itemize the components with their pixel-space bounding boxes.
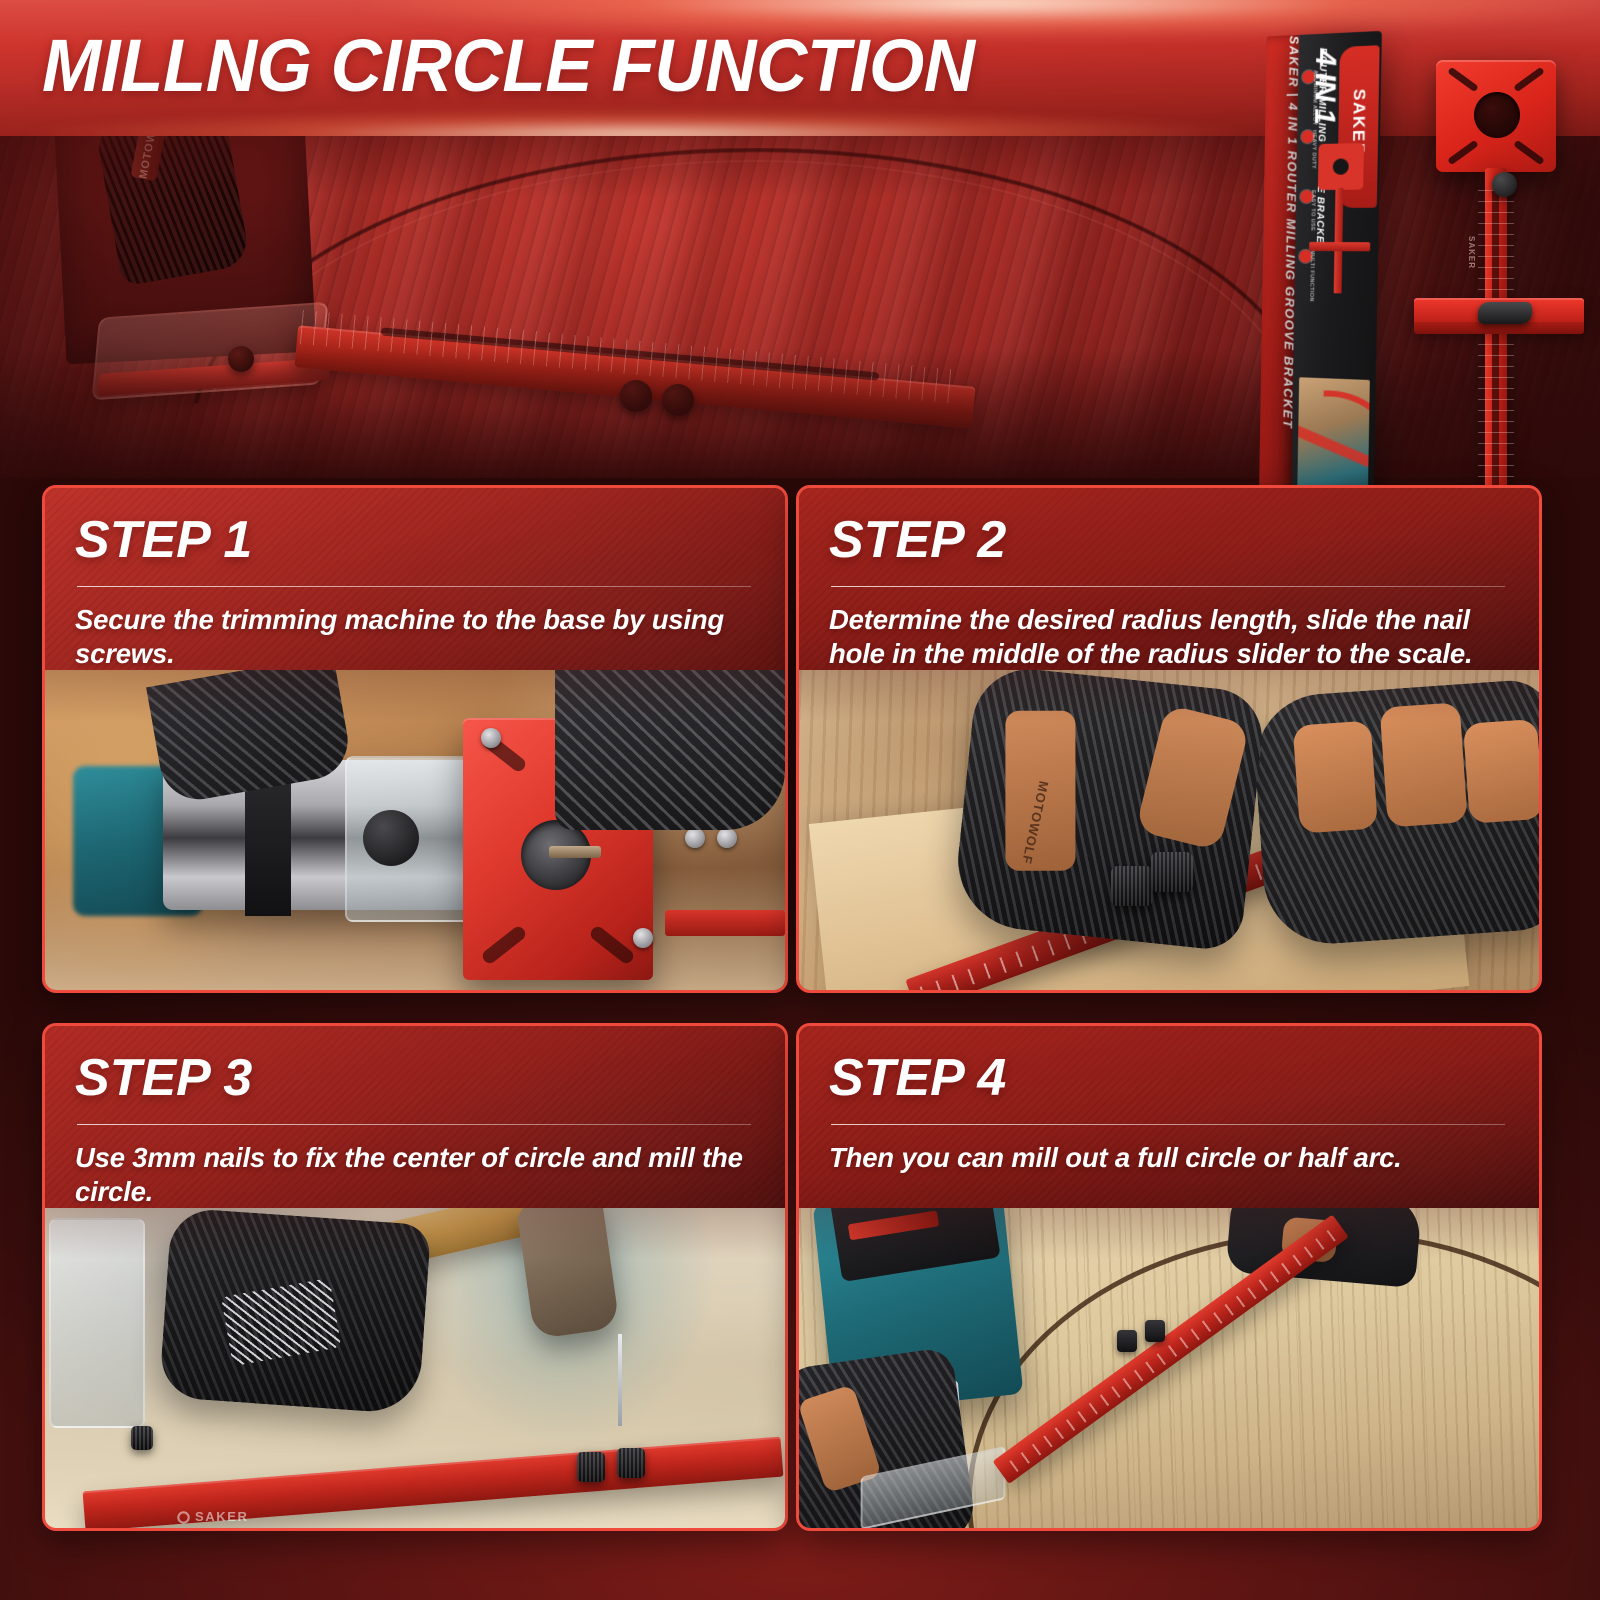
step-4-photo [799, 1208, 1539, 1528]
step-4-header: STEP 4 Then you can mill out a full circ… [799, 1026, 1539, 1214]
step-1-photo [45, 670, 785, 990]
tool-slot-bl [1447, 140, 1479, 166]
step-2-divider [831, 586, 1505, 587]
step-3-photo: SAKER [45, 1208, 785, 1528]
tool-slot-tr [1513, 67, 1545, 93]
tool-radius-slider [1478, 302, 1532, 324]
step-card-2: STEP 2 Determine the desired radius leng… [796, 485, 1542, 993]
box-illustration-cross [1309, 242, 1370, 251]
box-front-face: SAKER 4 IN 1 ROUTER MILLING GROOVE BRACK… [1290, 31, 1381, 559]
step-4-photo-shade [799, 1208, 1539, 1528]
tool-slot-tl [1447, 67, 1479, 93]
warning-triangle-icon [1353, 422, 1369, 437]
step-3-title: STEP 3 [75, 1052, 755, 1104]
step-1-body: Secure the trimming machine to the base … [75, 603, 755, 670]
step-2-photo: MOTOWOLF [799, 670, 1539, 990]
infographic-canvas: MOTOWOLF SAKER MILLNG CIRCLE FUNCTION SA… [0, 0, 1600, 1600]
page-title: MILLNG CIRCLE FUNCTION [42, 23, 975, 108]
box-illustration-plate [1318, 143, 1364, 190]
step-card-3: STEP 3 Use 3mm nails to fix the center o… [42, 1023, 788, 1531]
steps-grid: STEP 1 Secure the trimming machine to th… [42, 485, 1558, 1545]
tool-brand-mark: SAKER [1467, 236, 1476, 269]
tool-scale-ticks [1478, 190, 1514, 526]
step-2-header: STEP 2 Determine the desired radius leng… [799, 488, 1539, 676]
step-4-title: STEP 4 [829, 1052, 1509, 1104]
step-card-4: STEP 4 Then you can mill out a full circ… [796, 1023, 1542, 1531]
step-4-divider [831, 1124, 1505, 1125]
tool-base-plate [1436, 60, 1556, 172]
box-logo-text: SAKER [1347, 58, 1369, 188]
step-1-header: STEP 1 Secure the trimming machine to th… [45, 488, 785, 676]
product-showcase: SAKER | 4 IN 1 ROUTER MILLING GROOVE BRA… [1248, 20, 1600, 560]
step-3-photo-shade [45, 1208, 785, 1528]
tool-slot-br [1513, 140, 1545, 166]
product-tool: SAKER [1400, 40, 1600, 540]
step-3-header: STEP 3 Use 3mm nails to fix the center o… [45, 1026, 785, 1214]
step-4-body: Then you can mill out a full circle or h… [829, 1141, 1509, 1175]
step-2-body: Determine the desired radius length, sli… [829, 603, 1509, 670]
box-illustration-bar [1334, 188, 1344, 294]
tool-lock-knob [1492, 172, 1517, 197]
product-box: SAKER | 4 IN 1 ROUTER MILLING GROOVE BRA… [1258, 31, 1382, 559]
box-logo-plate: SAKER [1337, 45, 1380, 208]
step-2-title: STEP 2 [829, 514, 1509, 566]
step-1-title: STEP 1 [75, 514, 755, 566]
tool-center-hole [1474, 92, 1520, 138]
step-card-1: STEP 1 Secure the trimming machine to th… [42, 485, 788, 993]
step-1-divider [77, 586, 751, 587]
step-3-divider [77, 1124, 751, 1125]
step-2-photo-shade [799, 670, 1539, 990]
step-1-photo-shade [45, 670, 785, 990]
box-product-illustration [1310, 143, 1370, 295]
feature-label-1: ALUMINUM ALLOY [1311, 70, 1318, 134]
step-3-body: Use 3mm nails to fix the center of circl… [75, 1141, 755, 1208]
